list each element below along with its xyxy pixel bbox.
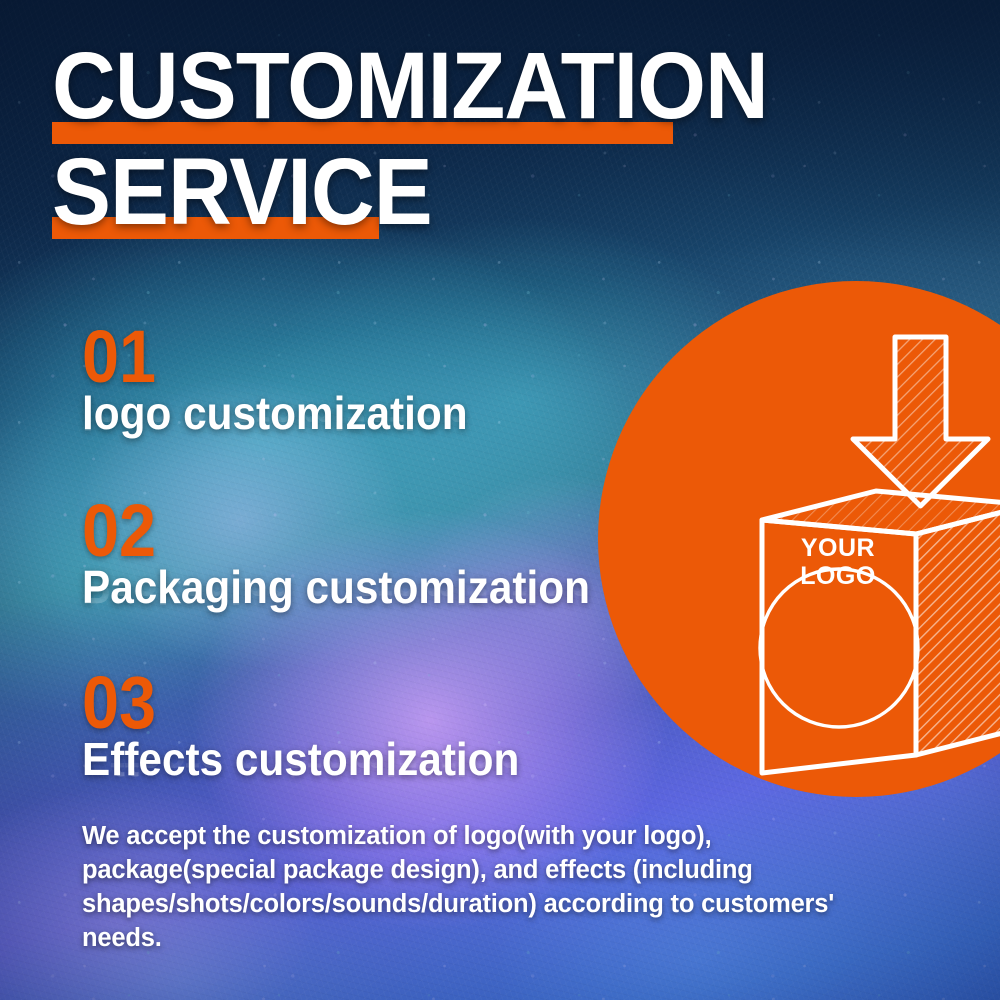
title-line-primary: CUSTOMIZATION [52,44,703,130]
service-item-02: 02 Packaging customization Packaging cus… [82,500,634,610]
service-number-01: 01 [82,326,459,388]
service-item-03: 03 Effects customization Effects customi… [82,672,557,782]
logo-placeholder-line-2: LOGO [786,562,890,590]
title-line-secondary: SERVICE [52,150,703,236]
service-label-text-01: logo customization [82,387,468,439]
service-number-03: 03 [82,672,510,734]
description-paragraph: We accept the customization of logo(with… [82,820,852,956]
page-title: CUSTOMIZATION SERVICE [52,44,752,239]
service-label-text-03: Effects customization [82,733,519,785]
service-label-03: Effects customization Effects customizat… [82,736,519,782]
service-label-02: Packaging customization Packaging custom… [82,564,590,610]
promotional-banner: CUSTOMIZATION SERVICE 01 logo customizat… [0,0,1000,1000]
service-item-01: 01 logo customization logo customization [82,326,501,436]
logo-circle-icon [760,569,918,727]
logo-placeholder-text: YOUR LOGO [786,534,890,590]
service-label-text-02: Packaging customization [82,561,590,613]
service-number-02: 02 [82,500,579,562]
service-label-01: logo customization logo customization [82,390,468,436]
down-arrow-icon [853,337,988,506]
logo-placeholder-line-1: YOUR [786,534,890,562]
